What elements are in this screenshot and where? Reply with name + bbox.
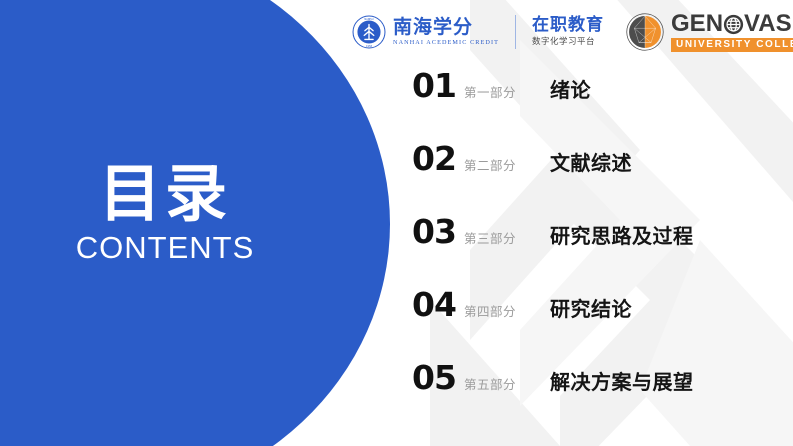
toc-item-02[interactable]: 02 第二部分 文献综述 (412, 139, 782, 212)
toc-number: 02 (412, 139, 464, 178)
toc-section-title: 文献综述 (550, 147, 632, 176)
genovasi-name-part1: GEN (671, 12, 723, 36)
toc-section-title: 研究思路及过程 (550, 220, 694, 249)
toc-section-title: 绪论 (550, 74, 591, 103)
genovasi-globe-icon (626, 13, 664, 51)
toc-part-label: 第一部分 (464, 82, 550, 101)
genovasi-logo: GEN VASI UNIVERSITY COLLEGE (626, 12, 793, 52)
nanhai-name-cn: 南海学分 (393, 18, 499, 37)
nanhai-logo-text: 南海学分 NANHAI ACEDEMIC CREDIT (393, 18, 499, 46)
table-of-contents: 01 第一部分 绪论 02 第二部分 文献综述 03 第三部分 研究思路及过程 … (412, 66, 782, 431)
zaizhi-title: 在职教育 (532, 17, 604, 34)
toc-part-label: 第二部分 (464, 155, 550, 174)
header-logo-bar: NANHAI 1958 南海学分 NANHAI ACEDEMIC CREDIT … (352, 9, 793, 55)
toc-section-title: 解决方案与展望 (550, 366, 694, 395)
toc-part-label: 第四部分 (464, 301, 550, 320)
toc-item-05[interactable]: 05 第五部分 解决方案与展望 (412, 358, 782, 431)
logo-divider (515, 15, 516, 49)
presentation-slide: 目录 CONTENTS NANHAI 1958 南海学分 NANHAI ACED… (0, 0, 793, 446)
svg-text:NANHAI: NANHAI (364, 18, 374, 21)
slide-title-block: 目录 CONTENTS (0, 160, 330, 266)
toc-section-title: 研究结论 (550, 293, 632, 322)
toc-item-03[interactable]: 03 第三部分 研究思路及过程 (412, 212, 782, 285)
genovasi-subtitle: UNIVERSITY COLLEGE (671, 38, 793, 52)
page-title-en: CONTENTS (0, 230, 330, 266)
genovasi-name: GEN VASI (671, 12, 793, 36)
toc-part-label: 第三部分 (464, 228, 550, 247)
toc-number: 03 (412, 212, 464, 251)
genovasi-logo-text: GEN VASI UNIVERSITY COLLEGE (671, 12, 793, 52)
toc-part-label: 第五部分 (464, 374, 550, 393)
globe-glyph-icon (723, 14, 744, 35)
zaizhi-subtitle: 数字化学习平台 (532, 38, 604, 47)
genovasi-name-part2: VASI (744, 12, 793, 36)
toc-item-01[interactable]: 01 第一部分 绪论 (412, 66, 782, 139)
toc-item-04[interactable]: 04 第四部分 研究结论 (412, 285, 782, 358)
page-title-cn: 目录 (0, 160, 330, 228)
nanhai-logo: NANHAI 1958 南海学分 NANHAI ACEDEMIC CREDIT (352, 15, 499, 49)
zaizhi-education-logo: 在职教育 数字化学习平台 (532, 17, 604, 47)
nanhai-name-en: NANHAI ACEDEMIC CREDIT (393, 40, 499, 46)
toc-number: 01 (412, 66, 464, 105)
toc-number: 05 (412, 358, 464, 397)
university-seal-icon: NANHAI 1958 (352, 15, 386, 49)
svg-text:1958: 1958 (366, 45, 373, 48)
toc-number: 04 (412, 285, 464, 324)
